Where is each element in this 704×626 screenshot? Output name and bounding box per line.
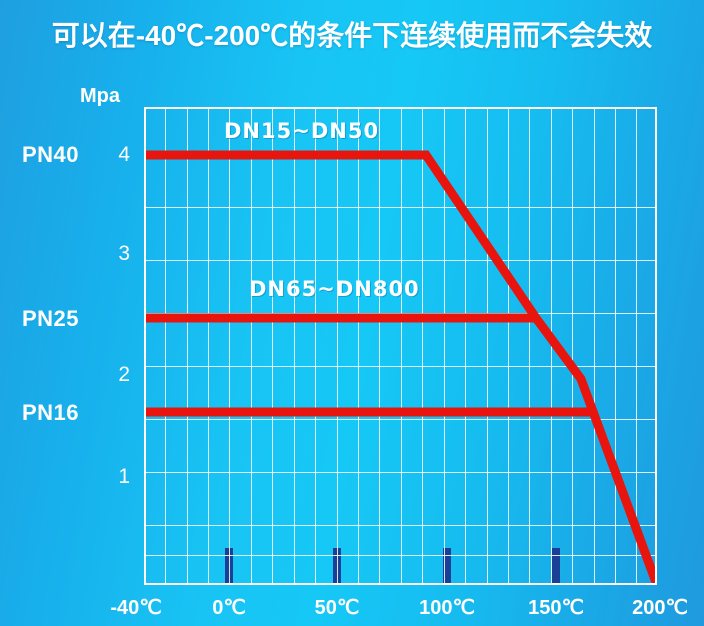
x-tick-150: 150℃	[528, 595, 584, 620]
pn25-label: PN25	[22, 306, 79, 332]
pn40-label: PN40	[22, 142, 79, 168]
y-tick-4: 4	[106, 143, 130, 167]
x-tick-minus40: -40℃	[110, 595, 161, 620]
series-label-dn15-dn50: DN15~DN50	[224, 119, 379, 143]
y-tick-3: 3	[106, 242, 130, 266]
x-tick-0: 0℃	[212, 595, 246, 620]
data-layer	[144, 107, 657, 585]
plot-area: DN15~DN50 DN65~DN800	[144, 107, 657, 585]
y-tick-2: 2	[106, 363, 130, 387]
x-tick-200: 200℃	[632, 595, 688, 620]
chart-page: 可以在-40℃-200℃的条件下连续使用而不会失效 Mpa PN40 PN25 …	[0, 0, 704, 626]
series-label-dn65-dn800: DN65~DN800	[249, 277, 420, 301]
y-axis-line	[144, 107, 146, 585]
pn16-label: PN16	[22, 400, 79, 426]
y-axis-unit-label: Mpa	[80, 85, 120, 108]
page-title: 可以在-40℃-200℃的条件下连续使用而不会失效	[0, 14, 704, 54]
x-tick-50: 50℃	[315, 595, 360, 620]
y-tick-1: 1	[106, 465, 130, 489]
series-line-dn15-dn50	[144, 155, 657, 585]
x-tick-100: 100℃	[419, 595, 475, 620]
